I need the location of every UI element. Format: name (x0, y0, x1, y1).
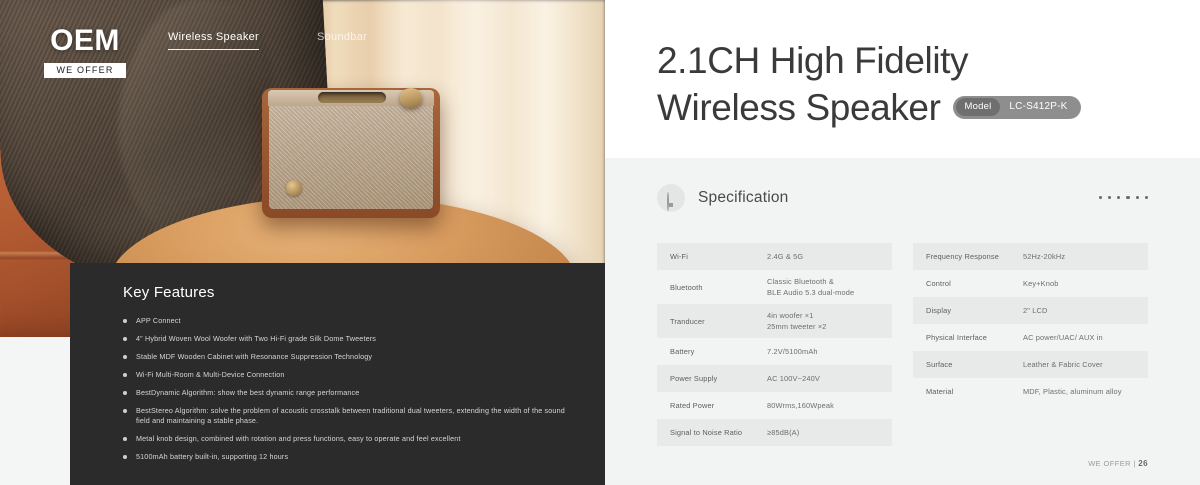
feature-item: BestDynamic Algorithm: show the best dyn… (123, 388, 575, 398)
speaker-product (262, 88, 440, 218)
feature-text: Wi-Fi Multi-Room & Multi-Device Connecti… (136, 370, 285, 379)
right-panel: 2.1CH High Fidelity Wireless SpeakerMode… (605, 0, 1200, 485)
spec-key: Battery (670, 347, 767, 356)
bullet-icon (123, 455, 127, 459)
page-title: 2.1CH High Fidelity Wireless SpeakerMode… (657, 38, 1177, 132)
spec-value: Key+Knob (1023, 278, 1059, 289)
spec-value: 80Wrms,160Wpeak (767, 400, 834, 411)
spec-key: Control (926, 279, 1023, 288)
speaker-badge-logo (286, 180, 302, 196)
spec-key: Signal to Noise Ratio (670, 428, 767, 437)
spec-key: Display (926, 306, 1023, 315)
feature-text: Stable MDF Wooden Cabinet with Resonance… (136, 352, 372, 361)
spec-value: 7.2V/5100mAh (767, 346, 818, 357)
table-row: Bluetooth Classic Bluetooth &BLE Audio 5… (657, 270, 892, 304)
spec-key: Frequency Response (926, 252, 1023, 261)
table-row: Signal to Noise Ratio ≥85dB(A) (657, 419, 892, 446)
table-row: Power Supply AC 100V~240V (657, 365, 892, 392)
key-features-panel: Key Features APP Connect 4" Hybrid Woven… (70, 263, 605, 485)
dot-icon (1126, 196, 1129, 199)
brand-name: OEM (44, 26, 126, 56)
spec-table-left: Wi-Fi 2.4G & 5G Bluetooth Classic Blueto… (657, 243, 892, 446)
nav-item-wireless-speaker[interactable]: Wireless Speaker (168, 31, 259, 50)
dot-icon (1099, 196, 1102, 199)
decorative-dots (1099, 196, 1148, 199)
bullet-icon (123, 373, 127, 377)
spec-key: Material (926, 387, 1023, 396)
spec-value: AC 100V~240V (767, 373, 820, 384)
spec-key: Rated Power (670, 401, 767, 410)
spec-key: Power Supply (670, 374, 767, 383)
feature-text: BestStereo Algorithm: solve the problem … (136, 406, 565, 425)
feature-text: 4" Hybrid Woven Wool Woofer with Two Hi-… (136, 334, 376, 343)
spec-key: Bluetooth (670, 283, 767, 292)
key-features-list: APP Connect 4" Hybrid Woven Wool Woofer … (123, 316, 575, 462)
feature-text: 5100mAh battery built-in, supporting 12 … (136, 452, 288, 461)
table-row: Control Key+Knob (913, 270, 1148, 297)
table-row: Battery 7.2V/5100mAh (657, 338, 892, 365)
left-panel: OEM WE OFFER Wireless Speaker Soundbar K… (0, 0, 605, 485)
specification-tables: Wi-Fi 2.4G & 5G Bluetooth Classic Blueto… (657, 243, 1149, 446)
spec-table-right: Frequency Response 52Hz-20kHz Control Ke… (913, 243, 1148, 446)
spec-value: MDF, Plastic, aluminum alloy (1023, 386, 1122, 397)
title-line-2: Wireless Speaker (657, 87, 941, 128)
feature-text: APP Connect (136, 316, 181, 325)
product-spec-sheet: OEM WE OFFER Wireless Speaker Soundbar K… (0, 0, 1200, 485)
bullet-icon (123, 391, 127, 395)
lightbulb-icon (657, 184, 685, 212)
bullet-icon (123, 437, 127, 441)
spec-key: Surface (926, 360, 1023, 369)
footer: WE OFFER | 26 (1088, 459, 1148, 468)
spec-value: Leather & Fabric Cover (1023, 359, 1103, 370)
table-row: Wi-Fi 2.4G & 5G (657, 243, 892, 270)
table-row: Rated Power 80Wrms,160Wpeak (657, 392, 892, 419)
title-line-1: 2.1CH High Fidelity (657, 40, 968, 81)
specification-header: Specification (657, 184, 788, 212)
dot-icon (1145, 196, 1148, 199)
dot-icon (1117, 196, 1120, 199)
spec-value: 2" LCD (1023, 305, 1047, 316)
spec-key: Tranducer (670, 317, 767, 326)
spec-value: Classic Bluetooth &BLE Audio 5.3 dual-mo… (767, 276, 854, 299)
footer-brand: WE OFFER (1088, 459, 1131, 468)
table-row: Frequency Response 52Hz-20kHz (913, 243, 1148, 270)
feature-item: 5100mAh battery built-in, supporting 12 … (123, 452, 575, 462)
bullet-icon (123, 409, 127, 413)
spec-key: Wi-Fi (670, 252, 767, 261)
table-row: Surface Leather & Fabric Cover (913, 351, 1148, 378)
table-row: Tranducer 4in woofer ×125mm tweeter ×2 (657, 304, 892, 338)
feature-item: 4" Hybrid Woven Wool Woofer with Two Hi-… (123, 334, 575, 344)
specification-title: Specification (698, 189, 788, 207)
spec-value: 52Hz-20kHz (1023, 251, 1065, 262)
model-label: Model (956, 98, 1001, 116)
footer-separator: | (1133, 459, 1135, 468)
key-features-title: Key Features (123, 284, 605, 301)
speaker-handle (318, 92, 386, 103)
page-number: 26 (1138, 459, 1148, 468)
spec-value: 2.4G & 5G (767, 251, 803, 262)
brand-logo: OEM WE OFFER (44, 26, 126, 78)
spec-value: 4in woofer ×125mm tweeter ×2 (767, 310, 827, 333)
table-row: Physical Interface AC power/UAC/ AUX in (913, 324, 1148, 351)
model-badge: ModelLC-S412P-K (953, 96, 1081, 119)
feature-item: Metal knob design, combined with rotatio… (123, 434, 575, 444)
feature-item: APP Connect (123, 316, 575, 326)
corner-white-block (0, 337, 70, 485)
dot-icon (1108, 196, 1111, 199)
feature-item: BestStereo Algorithm: solve the problem … (123, 406, 575, 427)
bullet-icon (123, 355, 127, 359)
feature-text: Metal knob design, combined with rotatio… (136, 434, 461, 443)
table-row: Display 2" LCD (913, 297, 1148, 324)
nav-item-soundbar[interactable]: Soundbar (317, 31, 367, 50)
bullet-icon (123, 319, 127, 323)
category-nav[interactable]: Wireless Speaker Soundbar (168, 31, 367, 50)
bullet-icon (123, 337, 127, 341)
model-number: LC-S412P-K (1009, 101, 1067, 114)
hero-block: 2.1CH High Fidelity Wireless SpeakerMode… (605, 0, 1200, 158)
table-row: Material MDF, Plastic, aluminum alloy (913, 378, 1148, 405)
feature-text: BestDynamic Algorithm: show the best dyn… (136, 388, 359, 397)
feature-item: Stable MDF Wooden Cabinet with Resonance… (123, 352, 575, 362)
feature-item: Wi-Fi Multi-Room & Multi-Device Connecti… (123, 370, 575, 380)
spec-value: ≥85dB(A) (767, 427, 799, 438)
spec-key: Physical Interface (926, 333, 1023, 342)
spec-value: AC power/UAC/ AUX in (1023, 332, 1103, 343)
speaker-metal-knob (400, 88, 422, 108)
dot-icon (1136, 196, 1139, 199)
brand-tagline: WE OFFER (44, 63, 126, 78)
